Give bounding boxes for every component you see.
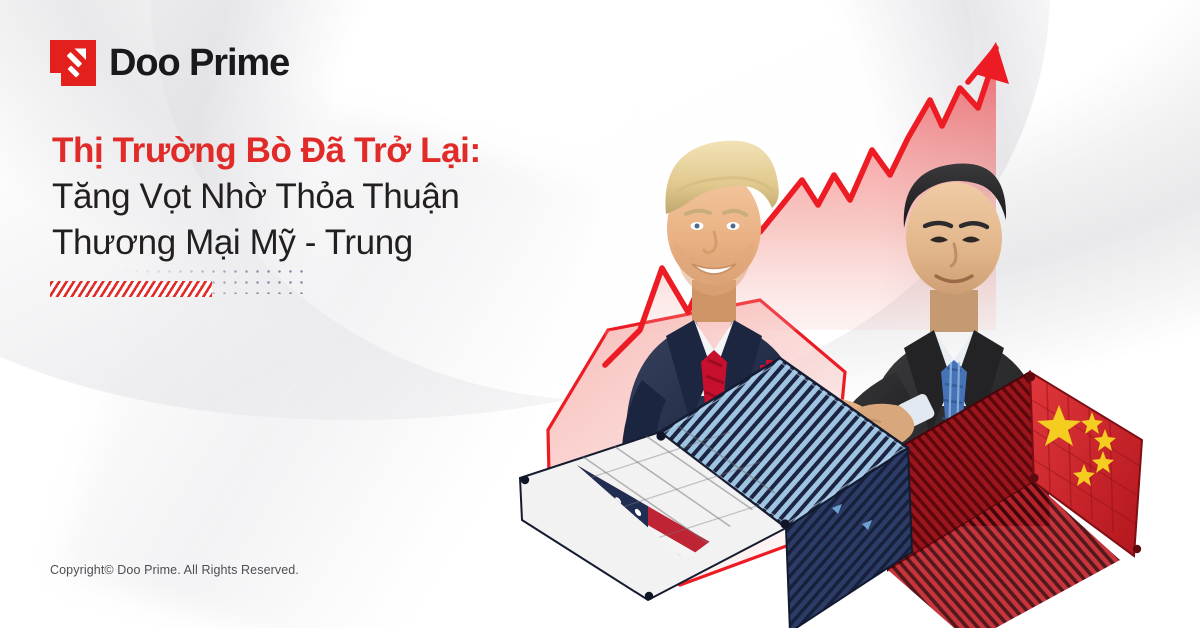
headline-line-2: Tăng Vọt Nhờ Thỏa Thuận [52, 174, 672, 220]
doo-prime-logo-mark-icon [50, 40, 96, 86]
diagonal-stripe-bar [50, 281, 212, 297]
promo-banner: Doo Prime Thị Trường Bò Đã Trở Lại: Tăng… [0, 0, 1200, 628]
headline-line-3: Thương Mại Mỹ - Trung [52, 220, 672, 266]
brand-logo[interactable]: Doo Prime [50, 40, 289, 86]
copyright-text: Copyright© Doo Prime. All Rights Reserve… [50, 563, 299, 577]
headline-block: Thị Trường Bò Đã Trở Lại: Tăng Vọt Nhờ T… [52, 128, 672, 266]
headline-line-1: Thị Trường Bò Đã Trở Lại: [52, 128, 672, 174]
brand-name: Doo Prime [109, 44, 289, 82]
artwork-composition [430, 0, 1200, 628]
